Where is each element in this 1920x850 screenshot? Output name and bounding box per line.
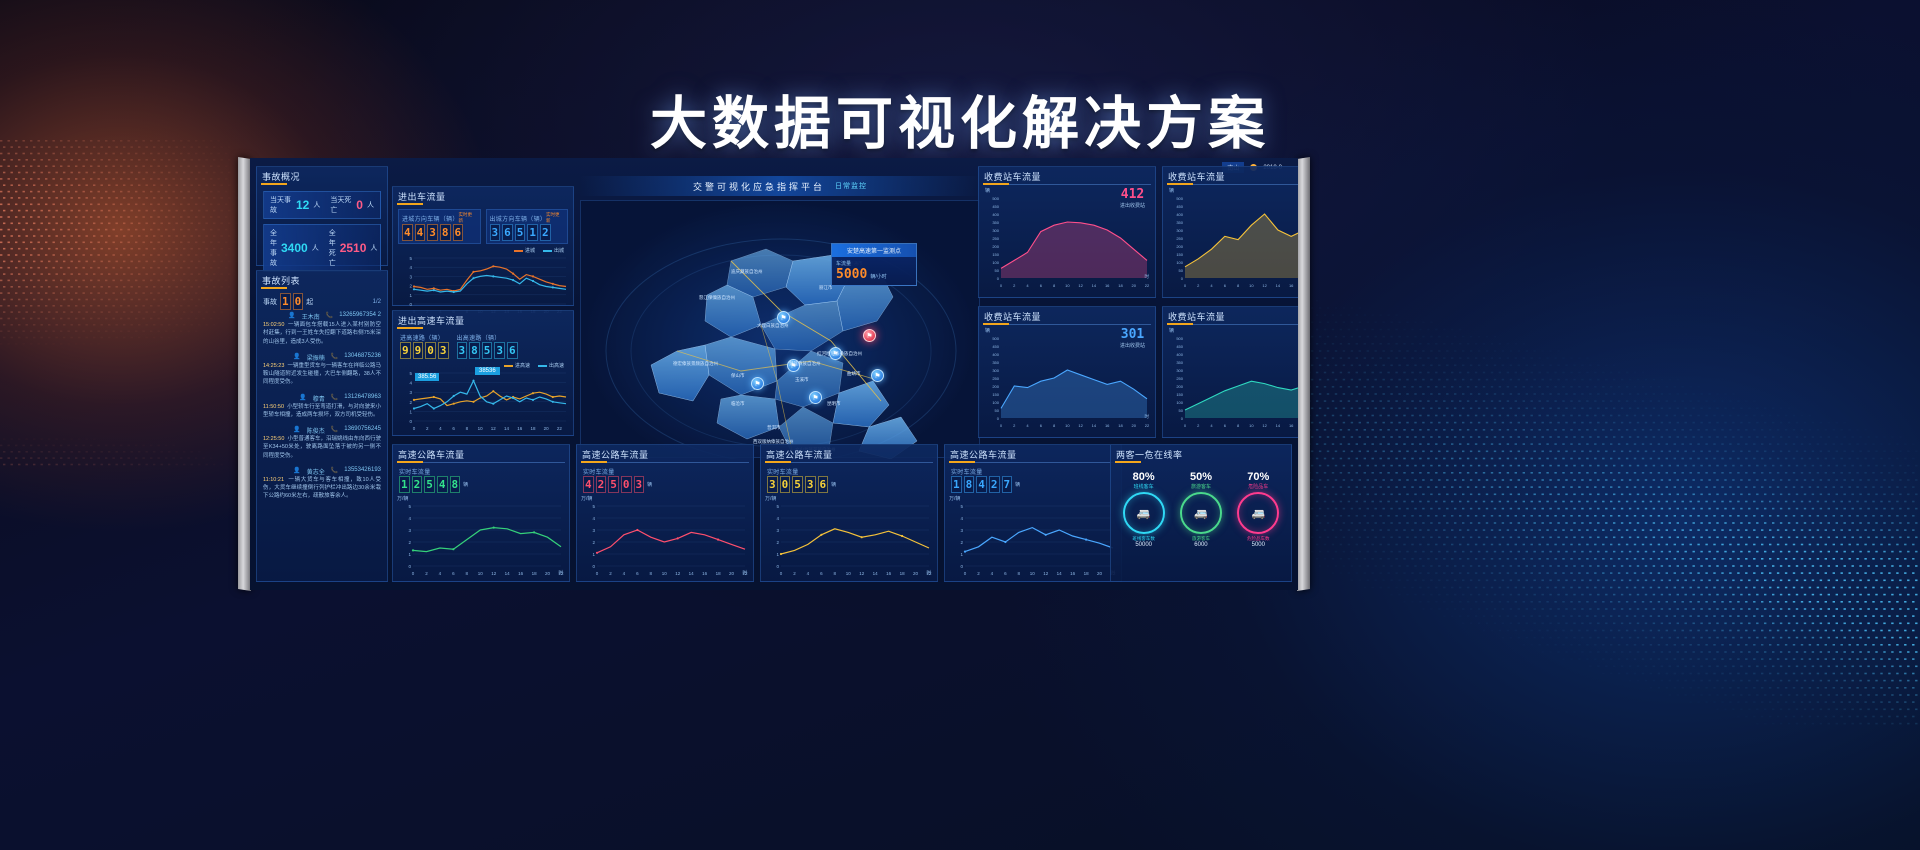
toll-sub-label: 进出收费站 (1120, 202, 1145, 209)
toll-x-unit: 时 (1145, 274, 1150, 280)
stat-label-a: 全年事故 (270, 228, 277, 268)
svg-text:10: 10 (662, 571, 668, 576)
legend-entry: 出城 (543, 247, 564, 254)
highway-counter-unit: 辆 (1015, 481, 1020, 488)
phone-icon: 📞 (326, 312, 333, 321)
accident-count-label: 事故 (263, 297, 277, 307)
accident-list-item[interactable]: 👤 穆青 📞 13126478963 11:50:50 小型轿车行至弯道打滑，与… (263, 394, 381, 420)
accident-stat-rows: 当天事故 12 人 当天死亡 0 人 全年事故 3400 人 全年死亡 2510… (257, 185, 387, 272)
odometer-digit: 2 (540, 224, 551, 241)
svg-text:5: 5 (408, 504, 411, 509)
phone-icon: 📞 (331, 426, 338, 435)
highway-panel-title: 高速公路车流量 (393, 445, 569, 463)
svg-text:18: 18 (1118, 283, 1123, 288)
toll-sub-label: 进出收费站 (1120, 342, 1145, 349)
stat-value-b: 2510 (340, 241, 367, 255)
svg-text:4: 4 (439, 426, 442, 431)
svg-text:2: 2 (609, 571, 612, 576)
accident-list-panel[interactable]: 事故列表 事故 10 起 1/2 👤 王木南 📞 13265967354 2 1… (256, 270, 388, 582)
gauge-count: 50000 (1123, 542, 1165, 548)
svg-text:500: 500 (1176, 196, 1183, 201)
svg-text:16: 16 (1105, 423, 1110, 428)
svg-text:10: 10 (846, 571, 852, 576)
map-region-label: 怒江傈僳族自治州 (699, 295, 735, 301)
svg-text:8: 8 (1237, 423, 1240, 428)
odometer-digit: 2 (412, 476, 423, 493)
phone-icon: 📞 (331, 353, 338, 362)
odometer-digit: 0 (621, 476, 632, 493)
accident-person-name: 梁振楠 (307, 353, 325, 362)
counter-tag: 实时更新 (459, 212, 477, 224)
svg-text:0: 0 (780, 571, 783, 576)
dashboard-screen: 交警可视化应急指挥平台 日常监控 南山 2018-0 事故概况 当天事故 12 … (250, 158, 1298, 590)
highway-panel: 高速公路车流量 实时车流量 18427 辆 万/辆 01234502468101… (944, 444, 1122, 582)
stat-label-b: 当天死亡 (330, 195, 352, 215)
svg-text:22: 22 (1145, 423, 1150, 428)
svg-text:1: 1 (409, 409, 412, 414)
svg-text:4: 4 (439, 571, 442, 576)
highway-chart: 0123450246810121416182022 (397, 502, 565, 578)
svg-text:450: 450 (1176, 204, 1183, 209)
svg-text:16: 16 (886, 571, 892, 576)
legend-swatch (543, 250, 552, 252)
toll-station-panel: 收费站车流量 412 进出收费站 辆 050100150200250300350… (978, 166, 1156, 298)
svg-text:2: 2 (409, 284, 412, 289)
odometer-digit: 0 (425, 342, 436, 359)
stat-unit-b: 人 (367, 200, 374, 210)
accident-person-name: 陈俊杰 (307, 426, 325, 435)
svg-text:400: 400 (1176, 212, 1183, 217)
highway-panel-title: 高速公路车流量 (761, 445, 937, 463)
map-tooltip-value: 5000 (836, 267, 867, 282)
stat-label-b: 全年死亡 (329, 228, 336, 268)
inout-counter: 出城方向车辆（辆） 实时更新 36512 (486, 209, 569, 244)
toll-chart: 0501001502002503003504004505000246810121… (1167, 334, 1298, 430)
svg-text:100: 100 (992, 260, 999, 265)
svg-text:6: 6 (636, 571, 639, 576)
wall-bezel-right (1297, 157, 1310, 591)
toll-station-panel: 收费站车流量 250 进出收费站 辆 050100150200250300350… (1162, 306, 1298, 438)
legend-entry: 进城 (514, 247, 535, 254)
highway-x-unit: 时 (559, 570, 564, 576)
accident-time: 12:25:50 (263, 436, 284, 442)
svg-text:20: 20 (1097, 571, 1103, 576)
legend-swatch (538, 365, 547, 367)
svg-text:100: 100 (992, 400, 999, 405)
svg-text:0: 0 (596, 571, 599, 576)
stat-label-a: 当天事故 (270, 195, 292, 215)
toll-value-block: 301 进出收费站 (1120, 327, 1145, 349)
gauge-count: 5000 (1237, 542, 1279, 548)
svg-text:200: 200 (992, 384, 999, 389)
svg-text:18: 18 (1118, 423, 1123, 428)
accident-list-item[interactable]: 👤 梁振楠 📞 13046875236 14:25:23 一辆重型货车与一辆客车… (263, 353, 381, 387)
svg-text:4: 4 (1210, 423, 1213, 428)
accident-phone: 13265967354 2 (339, 312, 381, 321)
right-dot-field (1300, 300, 1920, 730)
highway-counter-unit: 辆 (831, 481, 836, 488)
counter-tag: 实时更新 (546, 212, 564, 224)
accident-item-head: 👤 黄志全 📞 13553426193 (263, 467, 381, 476)
accident-count-unit: 起 (306, 297, 313, 307)
legend-swatch (504, 365, 513, 367)
map-region-label: 临沧市 (731, 401, 745, 407)
map-pin[interactable]: ⚑ (809, 391, 822, 404)
toll-chart: 0501001502002503003504004505000246810121… (1167, 194, 1298, 290)
svg-text:4: 4 (623, 571, 626, 576)
online-rate-gauge: 70% 危险品车 🚐 危险品车数 5000 (1237, 471, 1279, 548)
svg-text:1: 1 (776, 552, 779, 557)
odometer-digit: 4 (583, 476, 594, 493)
accident-list-item[interactable]: 👤 黄志全 📞 13553426193 11:10:21 一辆大货车与客车相撞，… (263, 467, 381, 501)
odometer-digit: 3 (767, 476, 778, 493)
odometer-digit: 7 (1002, 476, 1013, 493)
inout-flow-panel: 进出车流量 进城方向车辆（辆） 实时更新 44386 出城方向车辆（辆） 实时更… (392, 186, 574, 306)
svg-text:500: 500 (992, 196, 999, 201)
accident-item-body: 14:25:23 一辆重型货车与一辆客车在祥临公路马鞍山隧道附近发生碰撞，大巴车… (263, 362, 381, 387)
svg-text:450: 450 (992, 344, 999, 349)
odometer-digit: 0 (293, 293, 304, 310)
accident-item-head: 👤 王木南 📞 13265967354 2 (263, 312, 381, 321)
svg-text:350: 350 (992, 360, 999, 365)
map-tooltip-unit: 辆/小时 (870, 273, 886, 280)
svg-text:1: 1 (408, 552, 411, 557)
svg-text:0: 0 (409, 419, 412, 424)
svg-text:5: 5 (776, 504, 779, 509)
svg-text:16: 16 (1105, 283, 1110, 288)
svg-text:14: 14 (1092, 423, 1097, 428)
svg-text:5: 5 (960, 504, 963, 509)
svg-text:10: 10 (1030, 571, 1036, 576)
odometer-digit: 9 (413, 342, 424, 359)
video-wall: 交警可视化应急指挥平台 日常监控 南山 2018-0 事故概况 当天事故 12 … (238, 158, 1310, 590)
svg-text:0: 0 (409, 302, 412, 307)
online-rate-panel: 两客一危在线率 80% 班线客车 🚐 班线客车数 50000 50% 旅游客车 … (1110, 444, 1292, 582)
svg-text:12: 12 (675, 571, 681, 576)
svg-text:150: 150 (1176, 392, 1183, 397)
svg-text:2: 2 (409, 400, 412, 405)
inout-flow-title: 进出车流量 (393, 187, 573, 205)
highway-panel: 高速公路车流量 实时车流量 30536 辆 万/辆 01234502468101… (760, 444, 938, 582)
svg-text:100: 100 (1176, 260, 1183, 265)
svg-text:250: 250 (1176, 376, 1183, 381)
odometer-digit: 1 (951, 476, 962, 493)
highway-counter: 出高速路（辆） 38536 (457, 333, 518, 359)
gauge-sub-label: 危险品车 (1237, 483, 1279, 490)
svg-text:10: 10 (1065, 423, 1070, 428)
svg-text:450: 450 (1176, 344, 1183, 349)
accident-phone: 13126478963 (344, 394, 381, 403)
svg-text:8: 8 (1053, 423, 1056, 428)
svg-text:12: 12 (491, 426, 497, 431)
gauge-sub-label: 旅游客车 (1180, 483, 1222, 490)
page-headline: 大数据可视化解决方案 (0, 78, 1920, 160)
odometer-digit: 5 (608, 476, 619, 493)
highway-counter-block: 实时车流量 42503 辆 (577, 463, 753, 493)
highway-counter: 进高速路（辆） 9903 (400, 333, 449, 359)
svg-text:4: 4 (592, 516, 595, 521)
gauge-count: 6000 (1180, 542, 1222, 548)
svg-text:250: 250 (1176, 236, 1183, 241)
svg-text:0: 0 (960, 564, 963, 569)
toll-station-panel: 收费站车流量 360 进出收费站 辆 050100150200250300350… (1162, 166, 1298, 298)
highway-y-unit: 万/辆 (765, 495, 933, 502)
person-icon: 👤 (293, 467, 300, 476)
svg-text:16: 16 (1070, 571, 1076, 576)
svg-text:4: 4 (1026, 283, 1029, 288)
accident-count-row: 事故 10 起 1/2 (257, 289, 387, 312)
highway-tooltip-left: 385.56 (415, 373, 439, 381)
svg-text:2: 2 (793, 571, 796, 576)
svg-text:0: 0 (408, 564, 411, 569)
map-tooltip: 安楚高速第一监测点 车流量 5000 辆/小时 (831, 243, 917, 286)
map-region-label: 玉溪市 (795, 377, 809, 383)
svg-text:18: 18 (530, 426, 536, 431)
odometer-digit: 1 (527, 224, 538, 241)
highway-chart: 0123450246810121416182022 (581, 502, 749, 578)
map-region-label: 保山市 (731, 373, 745, 379)
svg-text:14: 14 (689, 571, 695, 576)
highway-inout-panel: 进出高速车流量 进高速路（辆） 9903 出高速路（辆） 38536 进高速出高… (392, 310, 574, 436)
highway-chart: 0123450246810121416182022 (949, 502, 1117, 578)
svg-text:10: 10 (1249, 283, 1254, 288)
svg-text:4: 4 (776, 516, 779, 521)
svg-text:0: 0 (1184, 423, 1187, 428)
svg-text:14: 14 (505, 571, 511, 576)
accident-list-items[interactable]: 👤 王木南 📞 13265967354 2 15:02:50 一辆面包车搭载15… (257, 312, 387, 501)
map-region-label: 红河哈尼族彝族自治州 (817, 351, 862, 357)
highway-panel-title: 高速公路车流量 (945, 445, 1121, 463)
svg-text:20: 20 (545, 571, 551, 576)
svg-text:8: 8 (650, 571, 653, 576)
svg-text:12: 12 (491, 571, 497, 576)
map-pin[interactable]: ⚑ (751, 377, 764, 390)
odometer-digit: 3 (457, 342, 468, 359)
map-region-label: 昆明市 (827, 401, 841, 407)
toll-value-block: 412 进出收费站 (1120, 187, 1145, 209)
svg-text:14: 14 (1276, 283, 1281, 288)
stat-unit-a: 人 (313, 200, 320, 210)
map-region-label: 迪庆藏族自治州 (731, 269, 763, 275)
svg-text:200: 200 (1176, 384, 1183, 389)
svg-text:0: 0 (997, 276, 1000, 281)
svg-text:3: 3 (409, 390, 412, 395)
highway-panel-title: 高速公路车流量 (577, 445, 753, 463)
svg-text:300: 300 (1176, 228, 1183, 233)
svg-text:10: 10 (478, 426, 484, 431)
accident-overview-title: 事故概况 (257, 167, 387, 185)
counter-label: 出高速路（辆） (457, 333, 518, 342)
highway-counter-unit: 辆 (463, 481, 468, 488)
svg-text:2: 2 (425, 571, 428, 576)
online-rate-gauge: 80% 班线客车 🚐 班线客车数 50000 (1123, 471, 1165, 548)
svg-text:22: 22 (557, 426, 563, 431)
svg-text:100: 100 (1176, 400, 1183, 405)
svg-text:16: 16 (1289, 283, 1294, 288)
map-tooltip-title: 安楚高速第一监测点 (832, 244, 916, 257)
counter-label: 进高速路（辆） (400, 333, 449, 342)
svg-text:20: 20 (1132, 283, 1137, 288)
legend-entry: 出高速 (538, 362, 564, 369)
svg-text:250: 250 (992, 376, 999, 381)
accident-list-page[interactable]: 1/2 (373, 299, 381, 305)
svg-text:12: 12 (1262, 423, 1267, 428)
person-icon: 👤 (299, 394, 306, 403)
stat-unit-b: 人 (370, 243, 377, 253)
svg-text:0: 0 (964, 571, 967, 576)
svg-text:3: 3 (408, 528, 411, 533)
odometer-digit: 8 (450, 476, 461, 493)
svg-text:1: 1 (409, 293, 412, 298)
svg-text:12: 12 (1043, 571, 1049, 576)
svg-text:350: 350 (1176, 360, 1183, 365)
svg-text:12: 12 (1078, 283, 1083, 288)
svg-text:10: 10 (1249, 423, 1254, 428)
online-rate-title: 两客一危在线率 (1111, 445, 1291, 463)
map-region-label: 德宏傣族景颇族自治州 (673, 361, 718, 367)
toll-y-unit: 辆 (1169, 327, 1298, 334)
svg-text:16: 16 (702, 571, 708, 576)
svg-text:150: 150 (1176, 252, 1183, 257)
legend-swatch (514, 250, 523, 252)
accident-list-title: 事故列表 (257, 271, 387, 289)
accident-phone: 13046875236 (344, 353, 381, 362)
highway-tooltip-right: 38536 (475, 367, 500, 375)
vehicle-icon: 🚐 (1194, 507, 1208, 520)
svg-text:5: 5 (409, 256, 412, 261)
map-pin[interactable]: ⚑ (863, 329, 876, 342)
svg-text:0: 0 (776, 564, 779, 569)
svg-text:0: 0 (1181, 276, 1184, 281)
svg-text:3: 3 (960, 528, 963, 533)
svg-text:2: 2 (426, 426, 429, 431)
odometer-digit: 0 (780, 476, 791, 493)
accident-phone: 13553426193 (344, 467, 381, 476)
accident-item-head: 👤 梁振楠 📞 13046875236 (263, 353, 381, 362)
odometer-digit: 6 (453, 224, 464, 241)
accident-time: 11:10:21 (263, 477, 284, 483)
svg-text:16: 16 (518, 571, 524, 576)
map-pin[interactable]: ⚑ (871, 369, 884, 382)
accident-time: 14:25:23 (263, 363, 284, 369)
svg-text:0: 0 (412, 571, 415, 576)
gauge-sub-label: 班线客车 (1123, 483, 1165, 490)
gauge-ring: 🚐 (1123, 492, 1165, 534)
map-region-label: 普洱市 (767, 425, 781, 431)
toll-panel-title: 收费站车流量 (1163, 307, 1298, 325)
svg-text:0: 0 (592, 564, 595, 569)
map-region-label: 楚雄彝族自治州 (789, 361, 821, 367)
svg-text:18: 18 (900, 571, 906, 576)
highway-panel: 高速公路车流量 实时车流量 12548 辆 万/辆 01234502468101… (392, 444, 570, 582)
svg-text:1: 1 (592, 552, 595, 557)
highway-y-unit: 万/辆 (397, 495, 565, 502)
toll-y-unit: 辆 (1169, 187, 1298, 194)
gauge-ring: 🚐 (1237, 492, 1279, 534)
svg-text:2: 2 (776, 540, 779, 545)
odometer-digit: 5 (424, 476, 435, 493)
gauge-percent: 70% (1237, 471, 1279, 483)
accident-stat-row: 全年事故 3400 人 全年死亡 2510 人 (263, 224, 381, 272)
stat-value-a: 12 (296, 198, 309, 212)
odometer-digit: 3 (634, 476, 645, 493)
svg-text:450: 450 (992, 204, 999, 209)
svg-text:500: 500 (1176, 336, 1183, 341)
svg-text:1: 1 (960, 552, 963, 557)
svg-text:2: 2 (1013, 283, 1016, 288)
accident-item-body: 12:25:50 小型普通客车，沿瑞姚线由东向西行驶至K34+50米处，驶离路面… (263, 435, 381, 460)
highway-inout-counters: 进高速路（辆） 9903 出高速路（辆） 38536 (393, 329, 573, 359)
svg-text:0: 0 (1000, 423, 1003, 428)
highway-counter-block: 实时车流量 30536 辆 (761, 463, 937, 493)
stat-value-a: 3400 (281, 241, 308, 255)
map-panel[interactable]: ⚑⚑⚑⚑⚑⚑⚑ 迪庆藏族自治州怒江傈僳族自治州丽江市大理白族自治州楚雄彝族自治州… (580, 200, 980, 458)
inout-flow-chart: 进城出城 0123450246810121416182022 (393, 244, 573, 316)
legend-entry: 进高速 (504, 362, 530, 369)
svg-text:18: 18 (716, 571, 722, 576)
accident-item-body: 11:10:21 一辆大货车与客车相撞，致10人受伤，大货车继续撞倒行列护栏冲出… (263, 476, 381, 501)
accident-item-head: 👤 穆青 📞 13126478963 (263, 394, 381, 403)
stat-value-b: 0 (356, 198, 363, 212)
counter-label: 进城方向车辆（辆） (402, 214, 459, 223)
svg-text:4: 4 (991, 571, 994, 576)
phone-icon: 📞 (331, 394, 338, 403)
gauge-percent: 80% (1123, 471, 1165, 483)
accident-list-item[interactable]: 👤 王木南 📞 13265967354 2 15:02:50 一辆面包车搭载15… (263, 312, 381, 346)
svg-text:6: 6 (452, 571, 455, 576)
counter-label: 出城方向车辆（辆） (490, 214, 547, 223)
phone-icon: 📞 (331, 467, 338, 476)
odometer-digit: 8 (964, 476, 975, 493)
odometer-digit: 9 (400, 342, 411, 359)
svg-text:2: 2 (977, 571, 980, 576)
odometer-digit: 8 (440, 224, 451, 241)
svg-text:6: 6 (1040, 283, 1043, 288)
svg-text:150: 150 (992, 392, 999, 397)
svg-text:18: 18 (1084, 571, 1090, 576)
accident-item-body: 15:02:50 一辆面包车搭载15人进入某村别防空村赶集，行到一王姓车失控翻下… (263, 321, 381, 346)
accident-list-item[interactable]: 👤 陈俊杰 📞 13690756245 12:25:50 小型普通客车，沿瑞姚线… (263, 426, 381, 460)
highway-panel: 高速公路车流量 实时车流量 42503 辆 万/辆 01234502468101… (576, 444, 754, 582)
highway-inout-title: 进出高速车流量 (393, 311, 573, 329)
svg-text:20: 20 (913, 571, 919, 576)
svg-text:8: 8 (466, 426, 469, 431)
gauge-ring: 🚐 (1180, 492, 1222, 534)
odometer-digit: 3 (494, 342, 505, 359)
highway-y-unit: 万/辆 (581, 495, 749, 502)
online-rate-gauge: 50% 旅游客车 🚐 旅游客车 6000 (1180, 471, 1222, 548)
svg-text:6: 6 (1224, 283, 1227, 288)
highway-chart: 0123450246810121416182022 (765, 502, 933, 578)
mode-tag[interactable]: 日常监控 (835, 181, 867, 191)
svg-text:10: 10 (1065, 283, 1070, 288)
svg-text:2: 2 (1013, 423, 1016, 428)
odometer-digit: 6 (507, 342, 518, 359)
svg-text:6: 6 (1040, 423, 1043, 428)
svg-text:50: 50 (1179, 268, 1184, 273)
svg-text:250: 250 (992, 236, 999, 241)
svg-text:22: 22 (1145, 283, 1150, 288)
inout-counter: 进城方向车辆（辆） 实时更新 44386 (398, 209, 481, 244)
accident-person-name: 王木南 (302, 312, 320, 321)
svg-text:6: 6 (1004, 571, 1007, 576)
highway-counter-label: 实时车流量 (583, 467, 747, 476)
svg-text:3: 3 (592, 528, 595, 533)
highway-counter-block: 实时车流量 12548 辆 (393, 463, 569, 493)
svg-text:150: 150 (992, 252, 999, 257)
accident-phone: 13690756245 (344, 426, 381, 435)
odometer-digit: 4 (976, 476, 987, 493)
